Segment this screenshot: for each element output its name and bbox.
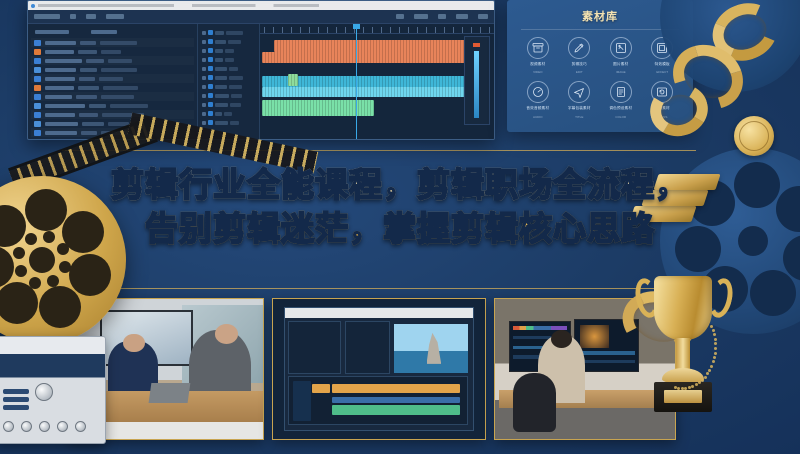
property-toggle[interactable] <box>208 39 213 44</box>
bin-header <box>31 28 194 38</box>
editor-title-bar <box>285 308 474 318</box>
reel-hole <box>750 270 796 316</box>
property-row[interactable] <box>200 82 257 91</box>
ruler-tick <box>462 27 463 33</box>
bin-row[interactable] <box>31 56 194 65</box>
property-value <box>215 58 223 62</box>
mixer-fader <box>3 405 29 410</box>
video-track-clip[interactable] <box>274 40 474 52</box>
reel-hole <box>59 261 71 273</box>
property-index <box>202 31 206 35</box>
property-value <box>215 31 224 35</box>
property-value <box>226 31 244 35</box>
person-right-head <box>215 324 238 344</box>
mixer-knob <box>21 421 32 432</box>
audio-mixer <box>0 336 106 444</box>
clip-duration <box>78 86 99 90</box>
property-value <box>225 49 235 53</box>
property-value <box>215 103 228 107</box>
document-list-icon[interactable] <box>610 81 632 103</box>
gold-dot <box>691 385 694 388</box>
bin-row[interactable] <box>31 74 194 83</box>
mixer-knob <box>57 421 68 432</box>
blue-clip <box>332 397 460 404</box>
material-tile-sub: EFFECT <box>656 70 668 74</box>
bin-row[interactable] <box>31 83 194 92</box>
ruler-tick <box>318 27 319 33</box>
mixer-fader <box>3 389 29 394</box>
editing-software-window[interactable] <box>27 0 495 140</box>
gold-dot <box>714 352 717 355</box>
green-clip <box>332 405 460 415</box>
reel-hole <box>15 265 27 277</box>
editor-window <box>284 307 475 430</box>
property-toggle[interactable] <box>208 75 213 80</box>
clip-name <box>45 41 76 45</box>
material-tile-sub: VIDEO <box>533 70 542 74</box>
gold-dot <box>681 387 684 390</box>
ruler-tick <box>363 27 364 33</box>
audio-level-meter <box>464 36 490 125</box>
property-toggle[interactable] <box>208 102 213 107</box>
clip-meta <box>99 77 123 81</box>
property-row[interactable] <box>200 55 257 64</box>
clip-color-label <box>34 112 41 118</box>
property-value <box>215 40 226 44</box>
clip-meta <box>108 59 131 63</box>
gold-dot <box>712 360 715 363</box>
mixer-fader <box>3 397 29 402</box>
property-row[interactable] <box>200 73 257 82</box>
material-tile-sub: COLOR <box>615 115 626 119</box>
property-value <box>230 103 242 107</box>
property-value <box>229 85 241 89</box>
laptop <box>149 383 191 403</box>
sea-rock <box>427 333 442 364</box>
clip-meta <box>110 104 148 108</box>
ruler-tick <box>489 27 490 33</box>
headline-banner: 剪辑行业全能课程，剪辑职场全流程， 告别剪辑迷茫，掌握剪辑核心思路 <box>0 163 800 250</box>
ruler-tick <box>399 27 400 33</box>
clip-color-label <box>34 121 41 127</box>
clip-duration <box>80 41 97 45</box>
pen-edit-icon[interactable] <box>568 37 590 59</box>
monitor-ui-row <box>578 351 636 355</box>
window-title-bar <box>28 1 494 10</box>
ruler-tick <box>345 27 346 33</box>
playhead[interactable] <box>356 24 357 139</box>
clip-color-label <box>34 40 41 46</box>
image-save-icon[interactable] <box>610 37 632 59</box>
material-tile-sub: EDIT <box>576 70 583 74</box>
clip-duration <box>82 122 105 126</box>
clip-duration <box>86 59 104 63</box>
toolbar[interactable] <box>28 10 494 24</box>
clip-name <box>45 104 85 108</box>
editing-software-photo <box>272 298 486 440</box>
toolbar-chip[interactable] <box>478 14 488 19</box>
gold-dot-arc <box>646 300 716 390</box>
material-tile-label: 图片素材 <box>613 62 628 67</box>
timeline-ruler[interactable] <box>260 24 494 34</box>
ruler-tick <box>300 27 301 33</box>
property-value <box>215 85 227 89</box>
property-row[interactable] <box>200 37 257 46</box>
clip-color-label <box>34 94 41 100</box>
divider <box>521 29 679 30</box>
gold-dot <box>706 372 709 375</box>
property-value <box>215 94 229 98</box>
toolbar-chip[interactable] <box>34 14 60 19</box>
property-value <box>231 94 242 98</box>
property-toggle[interactable] <box>208 120 213 125</box>
clip-name <box>45 86 74 90</box>
gold-dot <box>695 383 698 386</box>
clip-duration <box>81 131 97 135</box>
clip-duration <box>89 104 106 108</box>
gold-dot <box>710 365 713 368</box>
reel-hole <box>29 277 41 289</box>
plane-icon[interactable] <box>568 81 590 103</box>
gold-frame-line-bottom <box>62 288 696 289</box>
mixer-knob <box>75 421 86 432</box>
gold-frame-line-top <box>62 150 696 151</box>
property-row[interactable] <box>200 28 257 37</box>
material-tile-sub: TITLE <box>575 115 583 119</box>
clip-color-label <box>34 67 41 73</box>
gold-dot <box>713 333 716 336</box>
property-row[interactable] <box>200 118 257 127</box>
bin-row[interactable] <box>31 65 194 74</box>
property-value <box>229 67 238 71</box>
toolbar-chip[interactable] <box>414 14 428 19</box>
property-value <box>224 112 232 116</box>
ruler-tick <box>309 27 310 33</box>
person-left-head <box>123 334 144 352</box>
ruler-tick <box>282 27 283 33</box>
property-value <box>228 40 241 44</box>
mixer-knob <box>35 383 53 401</box>
toolbar-chip[interactable] <box>86 14 96 19</box>
property-row[interactable] <box>200 109 257 118</box>
clip-duration <box>76 95 97 99</box>
clip-duration <box>79 113 98 117</box>
ruler-tick <box>408 27 409 33</box>
property-row[interactable] <box>200 46 257 55</box>
video-track-clip-2[interactable] <box>262 52 474 63</box>
ruler-tick <box>426 27 427 33</box>
property-index <box>202 67 206 71</box>
gold-dot <box>713 356 716 359</box>
gold-dot <box>674 386 677 389</box>
clip-meta <box>101 95 134 99</box>
gold-dot <box>684 387 687 390</box>
clip-meta <box>101 68 137 72</box>
gold-dot <box>712 329 715 332</box>
ruler-tick <box>291 27 292 33</box>
ruler-tick <box>264 27 265 33</box>
material-library-title: 素材库 <box>517 8 683 24</box>
material-tile-label: 视频素材 <box>530 62 545 67</box>
ruler-tick <box>453 27 454 33</box>
timeline-panel[interactable] <box>260 24 494 139</box>
clip-name <box>45 59 82 63</box>
clip-properties-panel[interactable] <box>198 24 260 139</box>
clip-name <box>45 131 77 135</box>
clip-color-label <box>34 130 41 136</box>
editor-timeline <box>288 376 467 425</box>
gold-dot <box>714 347 717 350</box>
clip-meta <box>100 41 137 45</box>
material-tile-1[interactable]: 视频素材VIDEO <box>517 37 559 74</box>
ruler-tick <box>435 27 436 33</box>
material-tile-label: 剪辑技巧 <box>572 62 587 67</box>
clip-name <box>45 77 75 81</box>
clip-name <box>45 113 75 117</box>
clip-name <box>45 50 74 54</box>
gold-coin <box>734 116 774 156</box>
track-header <box>293 381 311 421</box>
property-value <box>229 76 243 80</box>
toolbar-chip[interactable] <box>106 14 124 19</box>
app-icon <box>31 4 35 8</box>
bin-row[interactable] <box>31 101 194 110</box>
clip-color-label <box>34 58 41 64</box>
property-toggle[interactable] <box>208 48 213 53</box>
property-value <box>215 121 228 125</box>
headline-line-2: 告别剪辑迷茫，掌握剪辑核心思路 <box>0 207 800 251</box>
audio-track-clip-2[interactable] <box>262 87 470 97</box>
material-tile-sub: AUDIO <box>533 115 543 119</box>
ruler-tick <box>381 27 382 33</box>
property-index <box>202 112 206 116</box>
toolbar-chip[interactable] <box>456 14 468 19</box>
property-row[interactable] <box>200 91 257 100</box>
course-promo-poster: 素材库 视频素材VIDEO剪辑技巧EDIT图片素材IMAGE特效模板EFFECT… <box>0 0 800 454</box>
editor-project-panel <box>288 321 341 374</box>
material-tile-label: 特效模板 <box>655 62 670 67</box>
property-value <box>215 49 223 53</box>
clip-meta <box>101 50 121 54</box>
property-row[interactable] <box>200 64 257 73</box>
office-chair <box>513 373 556 432</box>
material-tile-6[interactable]: 字幕包装素材TITLE <box>559 81 601 118</box>
gold-dot <box>677 387 680 390</box>
ruler-tick <box>372 27 373 33</box>
property-toggle[interactable] <box>208 30 213 35</box>
clip-name <box>45 122 78 126</box>
level-bar <box>474 51 479 118</box>
property-value <box>215 112 222 116</box>
ruler-tick <box>444 27 445 33</box>
clip-name <box>45 68 76 72</box>
gold-dot <box>704 376 707 379</box>
orange-clip-head <box>312 384 330 393</box>
property-index <box>202 121 206 125</box>
property-row[interactable] <box>200 100 257 109</box>
gold-dot <box>710 325 713 328</box>
peak-indicator <box>473 43 480 47</box>
toolbar-chip[interactable] <box>396 14 404 19</box>
reel-hole <box>39 286 81 328</box>
clip-color-label <box>34 103 41 109</box>
ruler-tick <box>390 27 391 33</box>
clip-color-label <box>34 49 41 55</box>
ruler-tick <box>480 27 481 33</box>
property-toggle[interactable] <box>208 111 213 116</box>
mixer-knob <box>3 421 14 432</box>
clip-duration <box>80 68 97 72</box>
material-tile-2[interactable]: 剪辑技巧EDIT <box>559 37 601 74</box>
clip-color-label <box>34 76 41 82</box>
property-toggle[interactable] <box>208 84 213 89</box>
property-index <box>202 103 206 107</box>
clip-duration <box>79 77 95 81</box>
material-tile-7[interactable]: 调色预设素材COLOR <box>600 81 642 118</box>
material-tile-sub: IMAGE <box>616 70 626 74</box>
clip-meta <box>103 86 138 90</box>
property-toggle[interactable] <box>208 93 213 98</box>
property-value <box>215 76 227 80</box>
editor-effects-panel <box>345 321 390 374</box>
clip-name <box>45 95 72 99</box>
monitor-ui-row <box>578 360 636 364</box>
property-value <box>225 58 234 62</box>
clip-color-label <box>34 85 41 91</box>
property-value <box>215 67 227 71</box>
property-row-list[interactable] <box>200 28 257 127</box>
material-tile-3[interactable]: 图片素材IMAGE <box>600 37 642 74</box>
monitor-preview <box>580 325 609 349</box>
material-tile-label: 字幕包装素材 <box>568 106 591 111</box>
bin-col-name <box>35 30 69 34</box>
material-tile-label: 音效音频素材 <box>526 106 549 111</box>
bin-row[interactable] <box>31 92 194 101</box>
material-tile-5[interactable]: 音效音频素材AUDIO <box>517 81 559 118</box>
gold-dot <box>698 381 701 384</box>
headline-line-1: 剪辑行业全能课程，剪辑职场全流程， <box>111 166 689 203</box>
property-index <box>202 49 206 53</box>
bin-row[interactable] <box>31 47 194 56</box>
clip-duration <box>78 50 97 54</box>
property-index <box>202 40 206 44</box>
marker-clip[interactable] <box>288 74 298 86</box>
ruler-tick <box>471 27 472 33</box>
music-track-clip[interactable] <box>262 100 374 116</box>
mixer-knob <box>39 421 50 432</box>
trophy-plaque <box>664 390 702 403</box>
reel-hole <box>69 254 111 296</box>
property-index <box>202 94 206 98</box>
gold-dot <box>701 379 704 382</box>
property-toggle[interactable] <box>208 66 213 71</box>
ruler-tick <box>273 27 274 33</box>
editor-preview-monitor <box>394 324 468 372</box>
toolbar-chip[interactable] <box>70 14 76 19</box>
menu-bar[interactable] <box>38 4 491 7</box>
orange-clip-main <box>332 384 460 393</box>
speed-gauge-icon[interactable] <box>527 81 549 103</box>
toolbar-chip[interactable] <box>438 14 446 19</box>
property-index <box>202 76 206 80</box>
bin-col-duration <box>91 30 117 34</box>
gold-dot <box>714 338 717 341</box>
property-index <box>202 58 206 62</box>
property-value <box>230 121 239 125</box>
property-toggle[interactable] <box>208 57 213 62</box>
ruler-tick <box>417 27 418 33</box>
ruler-tick <box>327 27 328 33</box>
material-tile-label: 调色预设素材 <box>609 106 632 111</box>
gold-dot <box>708 369 711 372</box>
bin-row[interactable] <box>31 38 194 47</box>
property-index <box>202 85 206 89</box>
bin-row[interactable] <box>31 110 194 119</box>
reel-hub <box>29 247 55 273</box>
gold-dot <box>688 386 691 389</box>
archive-box-icon[interactable] <box>527 37 549 59</box>
ruler-tick <box>336 27 337 33</box>
